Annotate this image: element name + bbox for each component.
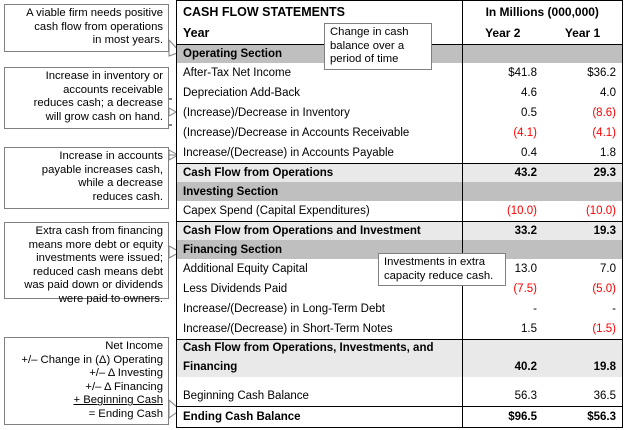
formula-line-net-income: Net Income <box>10 340 163 354</box>
table-row: Increase/(Decrease) in Short-Term Notes1… <box>177 319 622 339</box>
table-row: Increase/(Decrease) in Long-Term Debt-- <box>177 299 622 319</box>
cell-year2: $96.5 <box>462 406 543 427</box>
cell-year1: (1.5) <box>543 319 622 339</box>
callout-line: A viable firm needs positive <box>10 7 163 21</box>
cell-year2: 4.6 <box>462 83 543 103</box>
cell-year1: - <box>543 299 622 319</box>
cell-year1: (4.1) <box>543 123 622 143</box>
cell-year2 <box>462 339 543 357</box>
column-header-year2: Year 2 <box>462 23 543 44</box>
cell-year2: 56.3 <box>462 386 543 406</box>
cell-year2 <box>462 182 543 201</box>
callout-change-in-cash: Change in cash balance over a period of … <box>324 23 432 70</box>
callout-line: reduces cash; a decrease <box>10 97 163 111</box>
callout-line: Change in cash <box>330 26 426 40</box>
cell-year1: $56.3 <box>543 406 622 427</box>
cell-year1 <box>543 339 622 357</box>
column-header-year1: Year 1 <box>543 23 622 44</box>
spacer-cell <box>177 377 462 386</box>
statement-title: CASH FLOW STATEMENTS <box>177 1 462 23</box>
subtotal-row: Cash Flow from Operations43.229.3 <box>177 163 622 182</box>
formula-line-financing: +/– Δ Financing <box>10 381 163 395</box>
table-row: (Increase)/Decrease in Accounts Receivab… <box>177 123 622 143</box>
cell-year1: (8.6) <box>543 103 622 123</box>
row-label: Increase/(Decrease) in Long-Term Debt <box>177 299 462 319</box>
callout-line: while a decrease <box>10 177 163 191</box>
cell-year1: $36.2 <box>543 63 622 83</box>
cell-year2: (10.0) <box>462 201 543 221</box>
cell-year1: 19.8 <box>543 357 622 377</box>
cell-year1 <box>543 182 622 201</box>
cell-year2: 33.2 <box>462 221 543 240</box>
cell-year2: - <box>462 299 543 319</box>
callout-line: investments were issued; <box>10 252 163 266</box>
callout-capex: Investments in extra capacity reduce cas… <box>378 253 506 286</box>
callout-line: Increase in inventory or <box>10 70 163 84</box>
callout-line: Increase in accounts <box>10 150 163 164</box>
formula-line-operating: +/– Change in (Δ) Operating <box>10 354 163 368</box>
table-row: Capex Spend (Capital Expenditures)(10.0)… <box>177 201 622 221</box>
cell-year1: (10.0) <box>543 201 622 221</box>
table-header-row: CASH FLOW STATEMENTS In Millions (000,00… <box>177 1 622 23</box>
callout-line: was paid down or dividends <box>10 279 163 293</box>
row-label: (Increase)/Decrease in Accounts Receivab… <box>177 123 462 143</box>
cell-year2 <box>462 44 543 63</box>
row-label: Cash Flow from Operations and Investment <box>177 221 462 240</box>
total-row: Ending Cash Balance$96.5$56.3 <box>177 406 622 427</box>
callout-line: reduces cash. <box>10 191 163 205</box>
units-header: In Millions (000,000) <box>462 1 622 23</box>
callout-financing: Extra cash from financing means more deb… <box>4 222 169 299</box>
cell-year1: 19.3 <box>543 221 622 240</box>
subtotal-row: Cash Flow from Operations, Investments, … <box>177 339 622 357</box>
cell-year1: 1.8 <box>543 143 622 163</box>
callout-line: accounts receivable <box>10 84 163 98</box>
row-label: Financing <box>177 357 462 377</box>
formula-line-ending-cash: = Ending Cash <box>10 408 163 422</box>
cell-year1: 7.0 <box>543 259 622 279</box>
callout-line: period of time <box>330 53 426 67</box>
callout-line: payable increases cash, <box>10 164 163 178</box>
callout-viable-firm: A viable firm needs positive cash flow f… <box>4 4 169 52</box>
row-label: (Increase)/Decrease in Inventory <box>177 103 462 123</box>
cell-year2: 1.5 <box>462 319 543 339</box>
cell-year2: $41.8 <box>462 63 543 83</box>
callout-line: in most years. <box>10 34 163 48</box>
row-label: Depreciation Add-Back <box>177 83 462 103</box>
callout-line: balance over a <box>330 40 426 54</box>
callout-line: were paid to owners. <box>10 293 163 307</box>
row-label: Investing Section <box>177 182 462 201</box>
row-label: Beginning Cash Balance <box>177 386 462 406</box>
table-row: Increase/(Decrease) in Accounts Payable0… <box>177 143 622 163</box>
table-spacer-row <box>177 377 622 386</box>
cell-year1: 36.5 <box>543 386 622 406</box>
table-row: Beginning Cash Balance56.336.5 <box>177 386 622 406</box>
callout-line: cash flow from operations <box>10 21 163 35</box>
formula-line-investing: +/– Δ Investing <box>10 367 163 381</box>
cell-year2: (4.1) <box>462 123 543 143</box>
cell-year2: 0.4 <box>462 143 543 163</box>
row-label: Increase/(Decrease) in Accounts Payable <box>177 143 462 163</box>
callout-line: capacity reduce cash. <box>384 270 500 284</box>
cell-year1: 29.3 <box>543 163 622 182</box>
callout-line: Investments in extra <box>384 256 500 270</box>
callout-cash-formula: Net Income +/– Change in (Δ) Operating +… <box>4 337 169 425</box>
formula-line-beginning-cash: + Beginning Cash <box>10 394 163 408</box>
callout-line: means more debt or equity <box>10 239 163 253</box>
spacer-cell <box>543 377 622 386</box>
callout-line: reduced cash means debt <box>10 266 163 280</box>
row-label: Ending Cash Balance <box>177 406 462 427</box>
row-label: Capex Spend (Capital Expenditures) <box>177 201 462 221</box>
callout-line: will grow cash on hand. <box>10 111 163 125</box>
callout-inventory-receivable: Increase in inventory or accounts receiv… <box>4 67 169 129</box>
cell-year2: 40.2 <box>462 357 543 377</box>
callout-line: Extra cash from financing <box>10 225 163 239</box>
cell-year1 <box>543 240 622 259</box>
cell-year1: (5.0) <box>543 279 622 299</box>
cell-year2: 43.2 <box>462 163 543 182</box>
table-row: (Increase)/Decrease in Inventory0.5(8.6) <box>177 103 622 123</box>
spacer-cell <box>462 377 543 386</box>
cell-year1: 4.0 <box>543 83 622 103</box>
subtotal-row: Cash Flow from Operations and Investment… <box>177 221 622 240</box>
section-header-row: Investing Section <box>177 182 622 201</box>
table-row: Depreciation Add-Back4.64.0 <box>177 83 622 103</box>
cell-year1 <box>543 44 622 63</box>
cell-year2: 0.5 <box>462 103 543 123</box>
subtotal-row-continued: Financing40.219.8 <box>177 357 622 377</box>
row-label: Cash Flow from Operations <box>177 163 462 182</box>
row-label: Cash Flow from Operations, Investments, … <box>177 339 462 357</box>
callout-accounts-payable: Increase in accounts payable increases c… <box>4 147 169 209</box>
row-label: Increase/(Decrease) in Short-Term Notes <box>177 319 462 339</box>
